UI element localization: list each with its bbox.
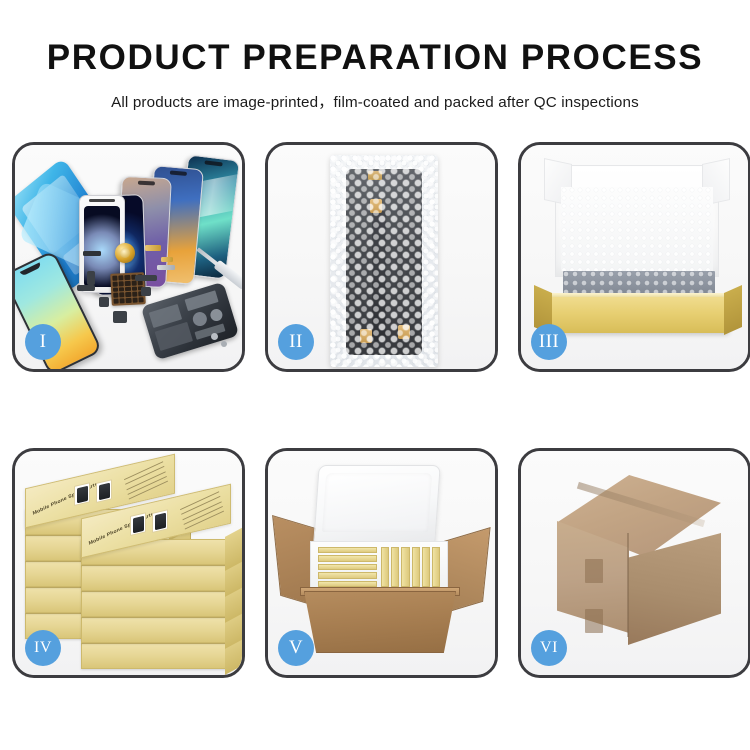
spare-part-bracket <box>157 265 175 270</box>
panel-step-6: VI <box>518 448 750 678</box>
tape-strip <box>360 329 372 343</box>
kraft-box <box>318 555 377 561</box>
chip-pad <box>131 286 136 291</box>
chip-pad <box>126 292 131 297</box>
step-badge-1: I <box>25 324 61 360</box>
spare-part-bar <box>83 251 101 256</box>
kraft-box-tray <box>547 297 729 333</box>
kraft-box <box>391 547 399 587</box>
bubble-wrap-bag <box>330 155 438 367</box>
kraft-box <box>81 643 231 669</box>
page-subtitle: All products are image-printed，film-coat… <box>0 90 750 112</box>
carton-body <box>304 591 456 653</box>
chip-pad <box>126 298 131 303</box>
kraft-box <box>318 547 377 553</box>
spec-line <box>180 491 219 510</box>
adhesive-tag <box>368 171 382 180</box>
spare-part-flex-cable <box>77 285 95 291</box>
kraft-box <box>412 547 420 587</box>
chip-pad <box>125 281 130 286</box>
screw-icon <box>211 333 218 340</box>
kraft-box <box>422 547 430 587</box>
notch-icon <box>170 170 188 175</box>
styrofoam-lid <box>313 465 440 543</box>
tape-patch <box>585 559 603 583</box>
window-screen-image <box>99 482 110 500</box>
sealed-carton <box>535 475 735 655</box>
step-badge-5: V <box>278 630 314 666</box>
box-spec-lines <box>124 461 168 499</box>
step-badge-4: IV <box>25 630 61 666</box>
chip-pad <box>132 292 137 297</box>
box-spec-lines <box>180 491 224 529</box>
foam-sheet <box>561 187 713 271</box>
page-title: PRODUCT PREPARATION PROCESS <box>0 40 750 77</box>
notch-icon <box>204 160 222 166</box>
box-window <box>96 479 112 503</box>
chip-pad <box>125 286 130 291</box>
box-window <box>130 512 146 536</box>
chip-pad <box>120 298 125 303</box>
chip-pad <box>131 280 136 285</box>
carton-vertical-edge <box>627 533 629 637</box>
chip-pad <box>119 287 124 292</box>
panel-step-5: V <box>265 448 498 678</box>
kraft-box <box>381 547 389 587</box>
box-window <box>74 482 90 506</box>
spare-part-flex-cable <box>87 271 95 285</box>
kraft-box-group-horizontal <box>318 547 377 587</box>
chip-pad <box>113 287 118 292</box>
chip-pad <box>112 276 117 281</box>
header: PRODUCT PREPARATION PROCESS All products… <box>0 0 750 112</box>
spare-part-gold-clip <box>161 257 173 262</box>
kraft-box <box>401 547 409 587</box>
step-badge-2: II <box>278 324 314 360</box>
chip-pad <box>114 299 119 304</box>
internal-module <box>185 290 219 311</box>
window-screen-image <box>133 515 144 533</box>
window-screen-image <box>77 485 88 503</box>
chip-pad <box>119 281 124 286</box>
phone-back-shell-internals <box>141 282 240 361</box>
spec-line <box>124 461 163 480</box>
notch-icon <box>138 181 155 186</box>
tape-patch <box>585 609 603 633</box>
internal-module <box>191 310 208 327</box>
internal-module <box>155 322 193 351</box>
spare-part-ribbon <box>135 275 157 281</box>
internal-module <box>209 308 224 323</box>
kraft-box <box>81 591 231 617</box>
kraft-box-group-vertical <box>381 547 440 587</box>
packed-kraft-boxes <box>318 547 440 587</box>
spare-part-chip <box>141 287 151 296</box>
spare-part-module <box>99 297 109 307</box>
kraft-box <box>318 564 377 570</box>
step-badge-6: VI <box>531 630 567 666</box>
flex-cable <box>372 211 386 341</box>
kraft-box <box>318 572 377 578</box>
kraft-box <box>432 547 440 587</box>
window-screen-image <box>155 512 166 530</box>
chip-pad <box>118 275 123 280</box>
panel-step-2: II <box>265 142 498 372</box>
chip-pad <box>113 293 118 298</box>
screw-icon <box>221 341 227 347</box>
chip-pad <box>113 281 118 286</box>
chip-pad <box>138 297 143 302</box>
process-step-grid: I II <box>12 142 738 678</box>
panel-step-4: Mobile Phone Spare Parts <box>12 448 245 678</box>
step-badge-3: III <box>531 324 567 360</box>
tape-strip <box>398 325 410 339</box>
spare-part-speaker <box>113 311 127 323</box>
wrapped-screen-assembly <box>346 169 422 355</box>
box-window <box>152 509 168 533</box>
panel-step-1: I <box>12 142 245 372</box>
product-preparation-page: PRODUCT PREPARATION PROCESS All products… <box>0 0 750 750</box>
kraft-box <box>81 617 231 643</box>
kraft-box <box>81 565 231 591</box>
chip-pad <box>132 298 137 303</box>
spare-part-gold-flex <box>145 245 161 251</box>
chip-pad <box>119 293 124 298</box>
panel-step-3: III <box>518 142 750 372</box>
gold-component-icon <box>115 243 135 263</box>
tape-strip <box>370 199 382 213</box>
chip-pad <box>125 275 130 280</box>
